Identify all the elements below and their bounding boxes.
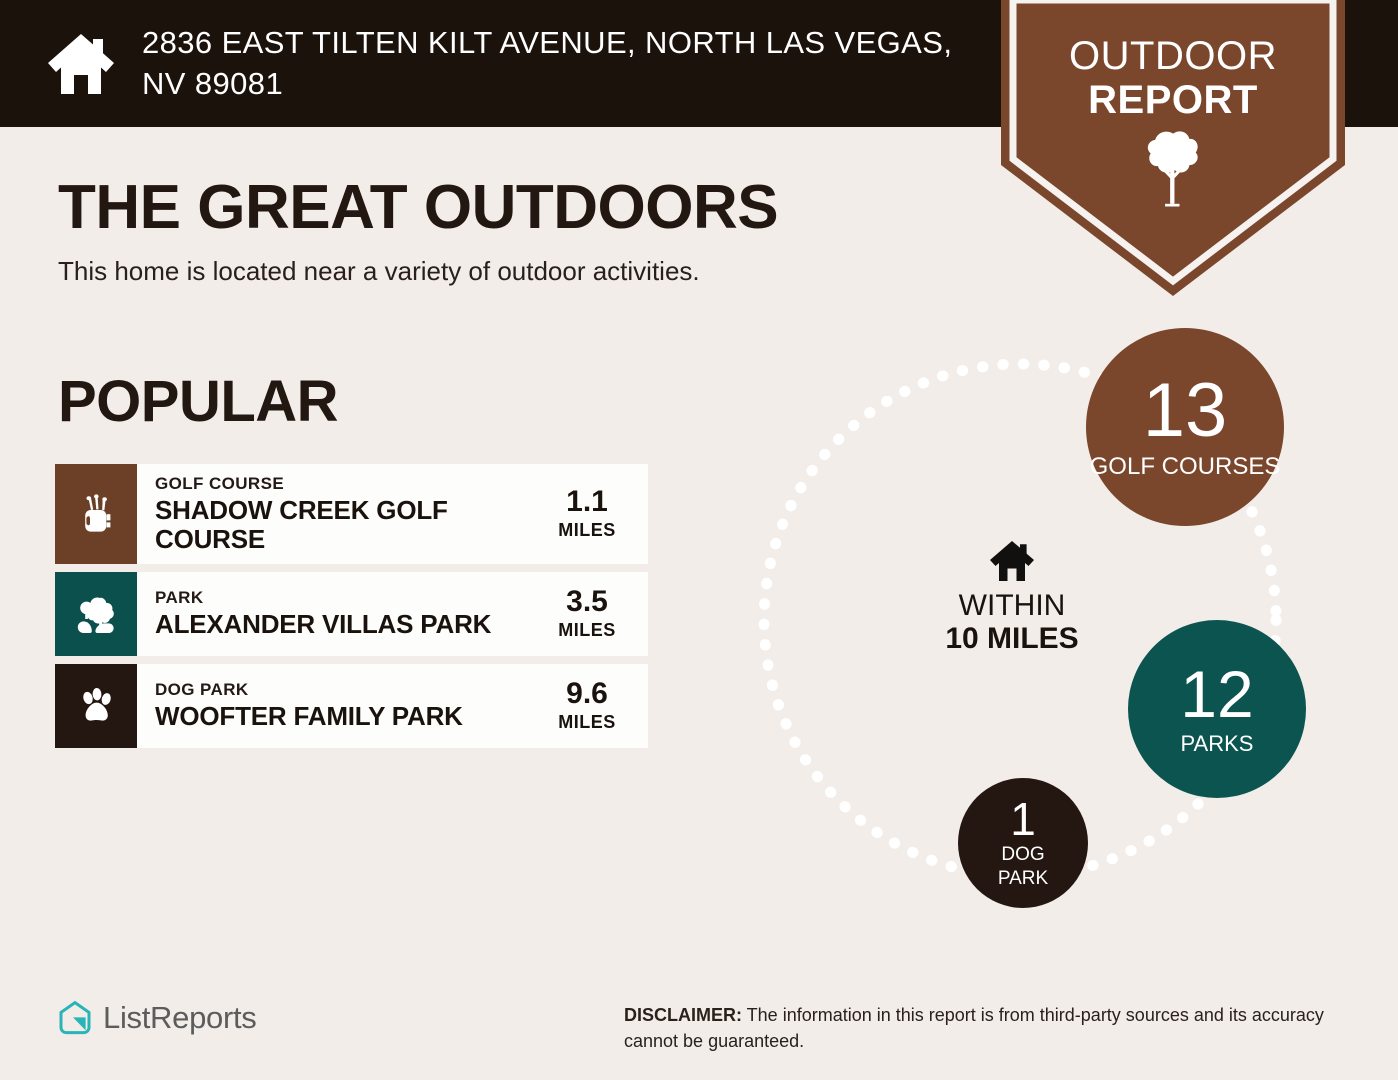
row-distance-unit: MILES: [558, 712, 616, 733]
stat-label: GOLF COURSES: [1090, 454, 1281, 480]
row-distance-value: 3.5: [566, 587, 608, 617]
home-icon: [44, 32, 118, 96]
stat-count: 12: [1180, 662, 1253, 727]
outdoor-report-badge: OUTDOOR REPORT: [1001, 0, 1345, 296]
page-title: THE GREAT OUTDOORS: [58, 172, 778, 243]
disclaimer: DISCLAIMER: The information in this repo…: [624, 1003, 1344, 1054]
diagram-within-label: WITHIN: [922, 590, 1102, 622]
row-text-block: PARK ALEXANDER VILLAS PARK: [137, 572, 536, 656]
park-tree-icon: [74, 592, 118, 636]
row-name: ALEXANDER VILLAS PARK: [155, 610, 530, 639]
badge-shape: [1001, 0, 1345, 296]
stat-count: 13: [1143, 374, 1228, 448]
golf-bag-icon: [74, 492, 118, 536]
header-address: 2836 EAST TILTEN KILT AVENUE, NORTH LAS …: [142, 23, 972, 105]
page-subtitle: This home is located near a variety of o…: [58, 256, 700, 287]
row-distance-value: 1.1: [566, 487, 608, 517]
row-icon-tile: [55, 464, 137, 564]
home-icon: [988, 540, 1036, 582]
list-item[interactable]: GOLF COURSE SHADOW CREEK GOLF COURSE 1.1…: [55, 464, 648, 564]
row-category: PARK: [155, 588, 530, 608]
row-distance-unit: MILES: [558, 520, 616, 541]
row-distance-value: 9.6: [566, 679, 608, 709]
paw-print-icon: [74, 684, 118, 728]
row-name: SHADOW CREEK GOLF COURSE: [155, 496, 530, 554]
stat-label: PARKS: [1181, 732, 1254, 756]
row-category: DOG PARK: [155, 680, 530, 700]
row-category: GOLF COURSE: [155, 474, 530, 494]
row-name: WOOFTER FAMILY PARK: [155, 702, 530, 731]
row-text-block: DOG PARK WOOFTER FAMILY PARK: [137, 664, 536, 748]
stat-label-line-1: DOG: [1001, 845, 1044, 866]
stat-bubble-dog-park[interactable]: 1 DOG PARK: [958, 778, 1088, 908]
diagram-center-label: WITHIN 10 MILES: [922, 540, 1102, 656]
disclaimer-label: DISCLAIMER:: [624, 1005, 742, 1025]
stat-count: 1: [1010, 797, 1036, 842]
row-distance: 9.6 MILES: [536, 664, 648, 748]
row-distance: 1.1 MILES: [536, 464, 648, 564]
listreports-logo[interactable]: ListReports: [58, 1000, 257, 1036]
listreports-house-icon: [58, 1000, 92, 1036]
row-distance-unit: MILES: [558, 620, 616, 641]
listreports-logo-text: ListReports: [103, 1000, 257, 1036]
within-10-miles-diagram: 13 GOLF COURSES 12 PARKS 1 DOG PARK WITH…: [700, 300, 1380, 960]
row-icon-tile: [55, 572, 137, 656]
diagram-radius-label: 10 MILES: [922, 622, 1102, 656]
infographic-page: 2836 EAST TILTEN KILT AVENUE, NORTH LAS …: [0, 0, 1398, 1080]
row-text-block: GOLF COURSE SHADOW CREEK GOLF COURSE: [137, 464, 536, 564]
list-item[interactable]: DOG PARK WOOFTER FAMILY PARK 9.6 MILES: [55, 664, 648, 748]
stat-label-line-2: PARK: [998, 869, 1048, 890]
list-item[interactable]: PARK ALEXANDER VILLAS PARK 3.5 MILES: [55, 572, 648, 656]
stat-bubble-golf-courses[interactable]: 13 GOLF COURSES: [1086, 328, 1284, 526]
row-distance: 3.5 MILES: [536, 572, 648, 656]
stat-bubble-parks[interactable]: 12 PARKS: [1128, 620, 1306, 798]
popular-list: GOLF COURSE SHADOW CREEK GOLF COURSE 1.1…: [55, 464, 648, 756]
section-heading-popular: POPULAR: [58, 368, 338, 435]
row-icon-tile: [55, 664, 137, 748]
